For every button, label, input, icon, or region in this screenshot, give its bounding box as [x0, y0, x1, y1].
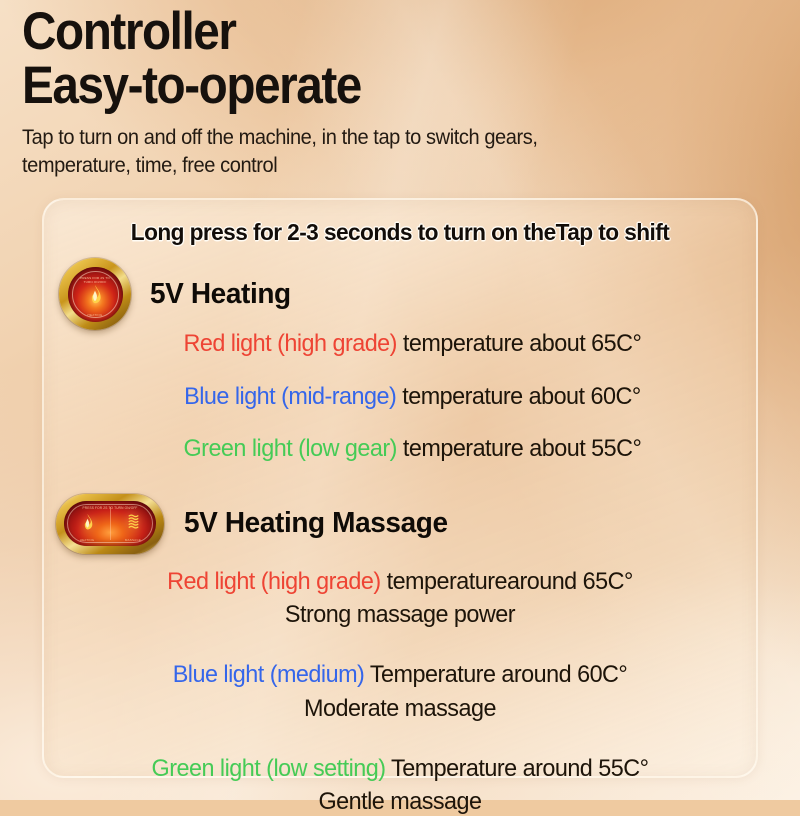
heating-power-button[interactable]: PRESS FOR 2S TO TURN ON/OFF HEATING: [59, 258, 131, 330]
page-title-line1: Controller: [22, 6, 702, 58]
massage-mode-list: Red light (high grade) temperaturearound…: [44, 570, 756, 816]
instruction-panel: Long press for 2-3 seconds to turn on th…: [42, 198, 758, 778]
massage-button-face: PRESS FOR 2S TO TURN ON/OFF HEATING: [64, 501, 156, 546]
page-header: Controller Easy-to-operate Tap to turn o…: [22, 6, 778, 179]
section-massage: PRESS FOR 2S TO TURN ON/OFF HEATING: [44, 494, 756, 816]
heating-button-face: PRESS FOR 2S TO TURN ON/OFF HEATING: [68, 267, 123, 322]
page-subtitle-line1: Tap to turn on and off the machine, in t…: [22, 124, 744, 152]
section-massage-title: 5V Heating Massage: [184, 507, 448, 540]
vibration-wave-icon: [127, 514, 140, 530]
page-title-line2: Easy-to-operate: [22, 60, 702, 112]
massage-button-heating-half[interactable]: HEATING: [64, 501, 110, 546]
massage-button-micro-massage: MASSAGE: [110, 538, 156, 542]
massage-mode-green-label: Green light (low setting): [152, 755, 386, 782]
massage-mode-red-label: Red light (high grade): [167, 568, 380, 595]
heating-button-micro-bottom: HEATING: [68, 313, 123, 317]
heating-mode-red-text: temperature about 65C°: [397, 330, 641, 357]
heating-mode-list: Red light (high grade) temperature about…: [44, 332, 756, 462]
section-massage-header: PRESS FOR 2S TO TURN ON/OFF HEATING: [44, 494, 756, 554]
massage-mode-green-text: Temperature around 55C°: [385, 755, 648, 782]
massage-mode-red-text: temperaturearound 65C°: [381, 568, 633, 595]
flame-icon: [88, 285, 103, 304]
massage-mode-green: Green light (low setting) Temperature ar…: [44, 757, 756, 816]
heating-mode-red-label: Red light (high grade): [183, 330, 396, 357]
heating-mode-green-label: Green light (low gear): [183, 435, 396, 462]
heating-mode-blue-label: Blue light (mid-range): [184, 383, 396, 410]
massage-mode-blue-line: Blue light (medium) Temperature around 6…: [60, 663, 740, 688]
flame-icon: [81, 514, 94, 530]
massage-button-massage-half[interactable]: MASSAGE: [110, 501, 156, 546]
heating-mode-blue-text: temperature about 60C°: [396, 383, 640, 410]
heating-mode-red: Red light (high grade) temperature about…: [60, 332, 740, 357]
heating-mode-green: Green light (low gear) temperature about…: [60, 437, 740, 462]
massage-mode-red: Red light (high grade) temperaturearound…: [44, 570, 756, 630]
massage-mode-blue-label: Blue light (medium): [173, 661, 365, 688]
massage-mode-red-sub: Strong massage power: [60, 601, 740, 629]
heating-mode-green-text: temperature about 55C°: [397, 435, 641, 462]
section-heating-header: PRESS FOR 2S TO TURN ON/OFF HEATING 5V H…: [44, 258, 756, 330]
massage-mode-green-line: Green light (low setting) Temperature ar…: [60, 757, 740, 782]
heating-button-micro-top: PRESS FOR 2S TO TURN ON/OFF: [68, 276, 123, 284]
massage-mode-green-sub: Gentle massage: [60, 788, 740, 816]
massage-power-button[interactable]: PRESS FOR 2S TO TURN ON/OFF HEATING: [56, 494, 164, 554]
page-subtitle: Tap to turn on and off the machine, in t…: [22, 124, 744, 179]
massage-mode-red-line: Red light (high grade) temperaturearound…: [60, 570, 740, 595]
heating-mode-blue: Blue light (mid-range) temperature about…: [60, 385, 740, 410]
section-heating: PRESS FOR 2S TO TURN ON/OFF HEATING 5V H…: [44, 258, 756, 462]
panel-heading: Long press for 2-3 seconds to turn on th…: [56, 219, 743, 246]
massage-mode-blue-text: Temperature around 60C°: [364, 661, 627, 688]
massage-button-micro-heating: HEATING: [64, 538, 110, 542]
massage-mode-blue: Blue light (medium) Temperature around 6…: [44, 663, 756, 723]
massage-mode-blue-sub: Moderate massage: [60, 695, 740, 723]
section-heating-title: 5V Heating: [150, 278, 291, 311]
page-subtitle-line2: temperature, time, free control: [22, 152, 744, 180]
